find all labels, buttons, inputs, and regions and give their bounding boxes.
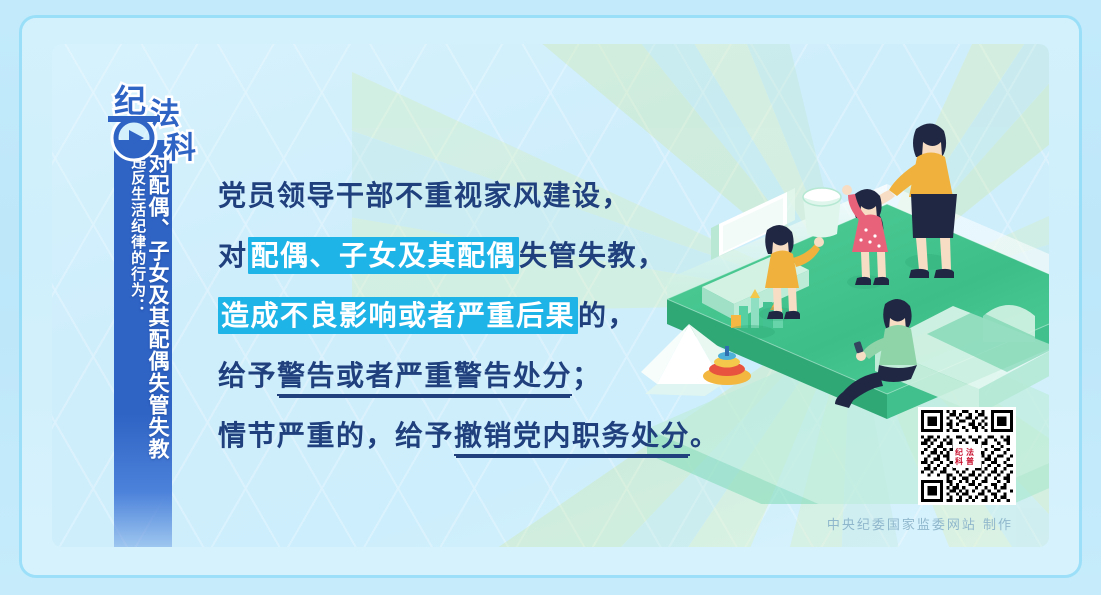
banner-category-label: 违反生活纪律的行为：: [130, 150, 146, 314]
body-plain-text: 情节严重的，给予: [218, 419, 454, 452]
body-line: 对配偶、子女及其配偶失管失教，: [218, 226, 738, 286]
body-highlight-text: 配偶、子女及其配偶: [248, 237, 520, 274]
body-line: 造成不良影响或者严重后果的，: [218, 286, 738, 346]
body-plain-text: ；: [572, 359, 602, 392]
svg-text:普: 普: [966, 456, 974, 466]
body-line: 给予警告或者严重警告处分；: [218, 346, 738, 406]
qr-code[interactable]: 纪 法 科 普: [918, 407, 1016, 505]
footer-credit: 中央纪委国家监委网站 制作: [827, 514, 1013, 533]
body-underlined-text: 撤销党内职务处分: [454, 419, 690, 456]
trash-bin: [803, 188, 841, 238]
body-plain-text: 的，: [578, 299, 637, 332]
logo-char-ji: 纪: [114, 82, 146, 120]
vertical-title-banner: 对配偶、子女及其配偶失管失教 违反生活纪律的行为：: [114, 140, 172, 547]
logo-char-ke: 科: [166, 131, 196, 166]
body-plain-text: 对: [218, 239, 248, 272]
body-text-block: 党员领导干部不重视家风建设， 对配偶、子女及其配偶失管失教， 造成不良影响或者严…: [218, 166, 738, 466]
svg-text:法: 法: [966, 447, 974, 457]
body-highlight-text: 造成不良影响或者严重后果: [218, 297, 578, 334]
body-plain-text: 失管失教，: [519, 239, 667, 272]
body-plain-text: 。: [690, 419, 720, 452]
poster-root: 纪 法 科 对配偶、子女及其配偶失管失教: [0, 0, 1101, 595]
poster-stage: 纪 法 科 对配偶、子女及其配偶失管失教: [52, 44, 1049, 547]
body-plain-text: 党员领导干部不重视家风建设，: [218, 179, 631, 212]
banner-topic-label: 对配偶、子女及其配偶失管失教: [146, 150, 168, 460]
body-line: 情节严重的，给予撤销党内职务处分。: [218, 406, 738, 466]
svg-text:纪: 纪: [955, 447, 963, 457]
qr-center-logo: 纪 法 科 普: [953, 444, 981, 468]
body-underlined-text: 警告或者严重警告处分: [277, 359, 572, 396]
svg-text:科: 科: [955, 456, 963, 466]
poster-frame: 纪 法 科 对配偶、子女及其配偶失管失教: [22, 18, 1079, 575]
brand-logo: 纪 法 科: [104, 76, 224, 166]
body-plain-text: 给予: [218, 359, 277, 392]
body-line: 党员领导干部不重视家风建设，: [218, 166, 738, 226]
play-circle-icon: [114, 118, 154, 158]
